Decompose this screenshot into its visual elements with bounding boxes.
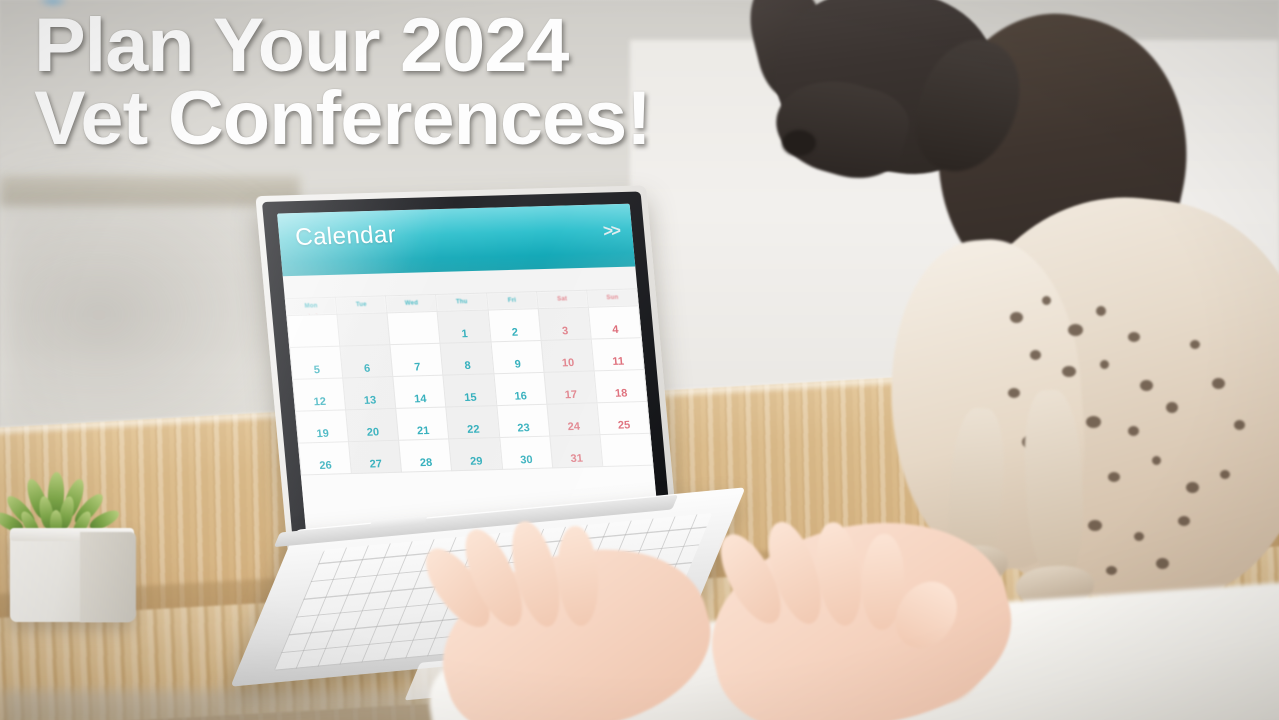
calendar-day-cell[interactable]: 17 [544,371,597,404]
calendar-weekday: Wed [386,294,438,312]
calendar-day-cell[interactable]: 25 [597,401,650,434]
promo-banner: Calendar >> << Mon Tue Wed Thu [0,0,1279,720]
calendar-day-cell[interactable]: 19 [296,410,349,443]
calendar-day-cell[interactable]: 20 [346,408,399,441]
calendar-weekday: Sun [587,289,639,307]
headline: Plan Your 2024 Vet Conferences! [34,10,834,156]
potted-plant [2,470,162,620]
calendar-day-cell[interactable]: 31 [550,435,603,468]
calendar-day-cell[interactable]: 27 [349,440,402,473]
calendar-day-cell[interactable]: 4 [588,306,641,339]
calendar-day-cell[interactable]: 9 [491,340,544,373]
calendar-weekday: Tue [336,296,388,314]
calendar-next-month-button[interactable]: >> [602,221,620,241]
calendar-day-cell[interactable]: 21 [396,407,449,440]
calendar-day-cell[interactable]: 12 [293,378,346,411]
calendar-day-cell[interactable]: 14 [393,375,446,408]
calendar-day-cell[interactable]: 7 [390,343,443,376]
laptop-screen: Calendar >> << Mon Tue Wed Thu [277,204,659,537]
plant-pot-side [80,532,136,622]
calendar-day-cell[interactable] [337,313,390,346]
calendar-day-cell[interactable]: 30 [499,436,552,469]
calendar-weekday: Thu [436,293,488,311]
calendar-day-cell[interactable]: 28 [399,439,452,472]
calendar-day-cell[interactable]: 26 [298,442,351,475]
calendar-day-cell[interactable]: 16 [494,372,547,405]
calendar-day-cell[interactable]: 22 [446,406,499,439]
calendar-day-cell[interactable]: 11 [591,338,644,371]
hand-right [691,495,1028,720]
calendar-header: Calendar >> [277,204,635,277]
calendar-day-cell[interactable]: 6 [340,345,393,378]
calendar-day-cell[interactable]: 15 [443,374,496,407]
headline-line-1: Plan Your 2024 [34,10,850,83]
calendar-day-cell[interactable]: 2 [488,309,541,342]
corner-artifact [38,0,68,8]
calendar-weekday: Mon [285,297,337,315]
calendar-day-cell[interactable]: 1 [437,310,490,343]
calendar-day-cell[interactable]: 10 [541,339,594,372]
calendar-day-cell[interactable] [600,433,653,466]
calendar-title: Calendar [294,221,397,252]
calendar-weekday: Fri [486,292,538,310]
calendar-day-cell[interactable] [387,311,440,344]
calendar-day-cell[interactable]: 18 [594,370,647,403]
calendar-grid[interactable]: Mon Tue Wed Thu Fri Sat Sun [285,288,654,475]
calendar-day-cell[interactable]: 23 [496,404,549,437]
screen-bezel: Calendar >> << Mon Tue Wed Thu [262,191,672,548]
headline-line-2: Vet Conferences! [34,83,850,156]
calendar-day-cell[interactable]: 5 [290,346,343,379]
calendar-body: << Mon Tue Wed Thu Fri Sat Su [285,288,659,536]
calendar-day-cell[interactable]: 8 [440,342,493,375]
calendar-day-cell[interactable]: 29 [449,437,502,470]
calendar-weekday: Sat [536,290,588,308]
calendar-day-cell[interactable]: 3 [538,307,591,340]
calendar-day-cell[interactable]: 24 [547,403,600,436]
calendar-day-cell[interactable]: 13 [343,377,396,410]
typing-hands [430,520,1050,720]
